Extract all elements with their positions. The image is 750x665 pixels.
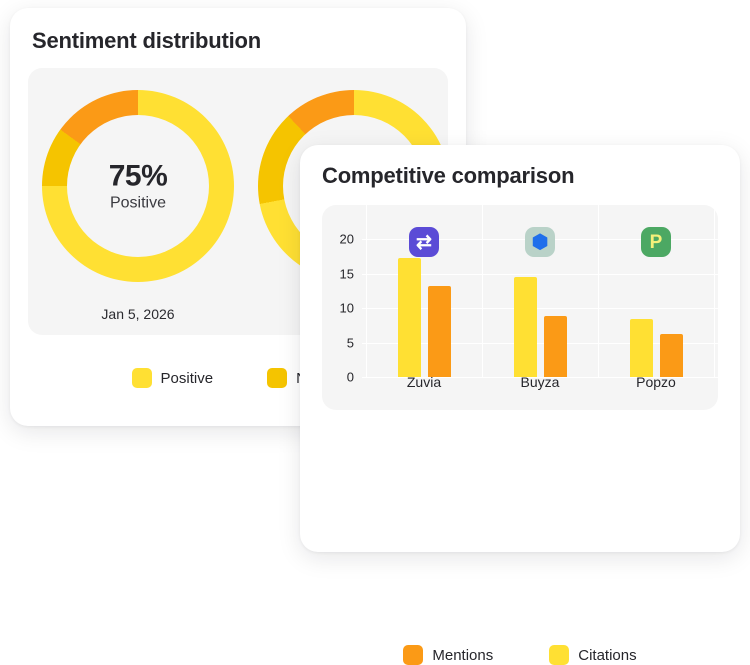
- page-title: Sentiment distribution: [32, 28, 261, 54]
- legend-label: Citations: [578, 647, 636, 664]
- x-axis-category-label: Buyza: [490, 374, 590, 390]
- legend-item-citations[interactable]: Citations: [549, 645, 636, 665]
- y-axis-tick-label: 5: [322, 335, 354, 350]
- bar-citations-popzo[interactable]: [630, 319, 653, 378]
- legend-swatch-icon: [132, 368, 152, 388]
- donut-date-label: Jan 5, 2026: [42, 306, 234, 322]
- gridline-vertical: [598, 205, 599, 377]
- gridline-vertical: [714, 205, 715, 377]
- brand-glyph: ⇄: [416, 233, 432, 252]
- bar-citations-buyza[interactable]: [514, 277, 537, 377]
- legend-item-mentions[interactable]: Mentions: [403, 645, 493, 665]
- y-axis-tick-label: 15: [322, 266, 354, 281]
- bar-citations-zuvia[interactable]: [398, 258, 421, 377]
- bar-mentions-popzo[interactable]: [660, 334, 683, 377]
- donut-center-label: 75% Positive: [68, 160, 208, 212]
- y-axis-tick-label: 10: [322, 301, 354, 316]
- zuvia-logo-icon[interactable]: ⇄: [409, 227, 439, 257]
- gridline-vertical: [366, 205, 367, 377]
- legend-swatch-icon: [403, 645, 423, 665]
- x-axis-category-label: Popzo: [606, 374, 706, 390]
- comparison-legend: Mentions Citations: [322, 645, 718, 665]
- bar-chart-panel: 05101520Zuvia⇄Buyza⬢PopzoP: [322, 205, 718, 410]
- gridline-vertical: [482, 205, 483, 377]
- competitive-comparison-card: Competitive comparison 05101520Zuvia⇄Buy…: [300, 145, 740, 552]
- bar-mentions-buyza[interactable]: [544, 316, 567, 377]
- legend-swatch-icon: [549, 645, 569, 665]
- legend-label: Positive: [161, 370, 214, 387]
- popzo-logo-icon[interactable]: P: [641, 227, 671, 257]
- comparison-title: Competitive comparison: [322, 163, 574, 189]
- donut-sublabel: Positive: [68, 194, 208, 212]
- y-axis-tick-label: 20: [322, 232, 354, 247]
- buyza-logo-icon[interactable]: ⬢: [525, 227, 555, 257]
- brand-glyph: P: [650, 233, 663, 252]
- legend-item-positive[interactable]: Positive: [132, 368, 214, 388]
- bar-mentions-zuvia[interactable]: [428, 286, 451, 377]
- donut-percent: 75%: [68, 160, 208, 192]
- y-axis-tick-label: 0: [322, 370, 354, 385]
- donut-chart-primary[interactable]: 75% Positive: [42, 90, 234, 282]
- brand-glyph: ⬢: [532, 233, 549, 252]
- bar-chart-plot: 05101520Zuvia⇄Buyza⬢PopzoP: [322, 205, 718, 410]
- legend-swatch-icon: [267, 368, 287, 388]
- legend-label: Mentions: [432, 647, 493, 664]
- x-axis-category-label: Zuvia: [374, 374, 474, 390]
